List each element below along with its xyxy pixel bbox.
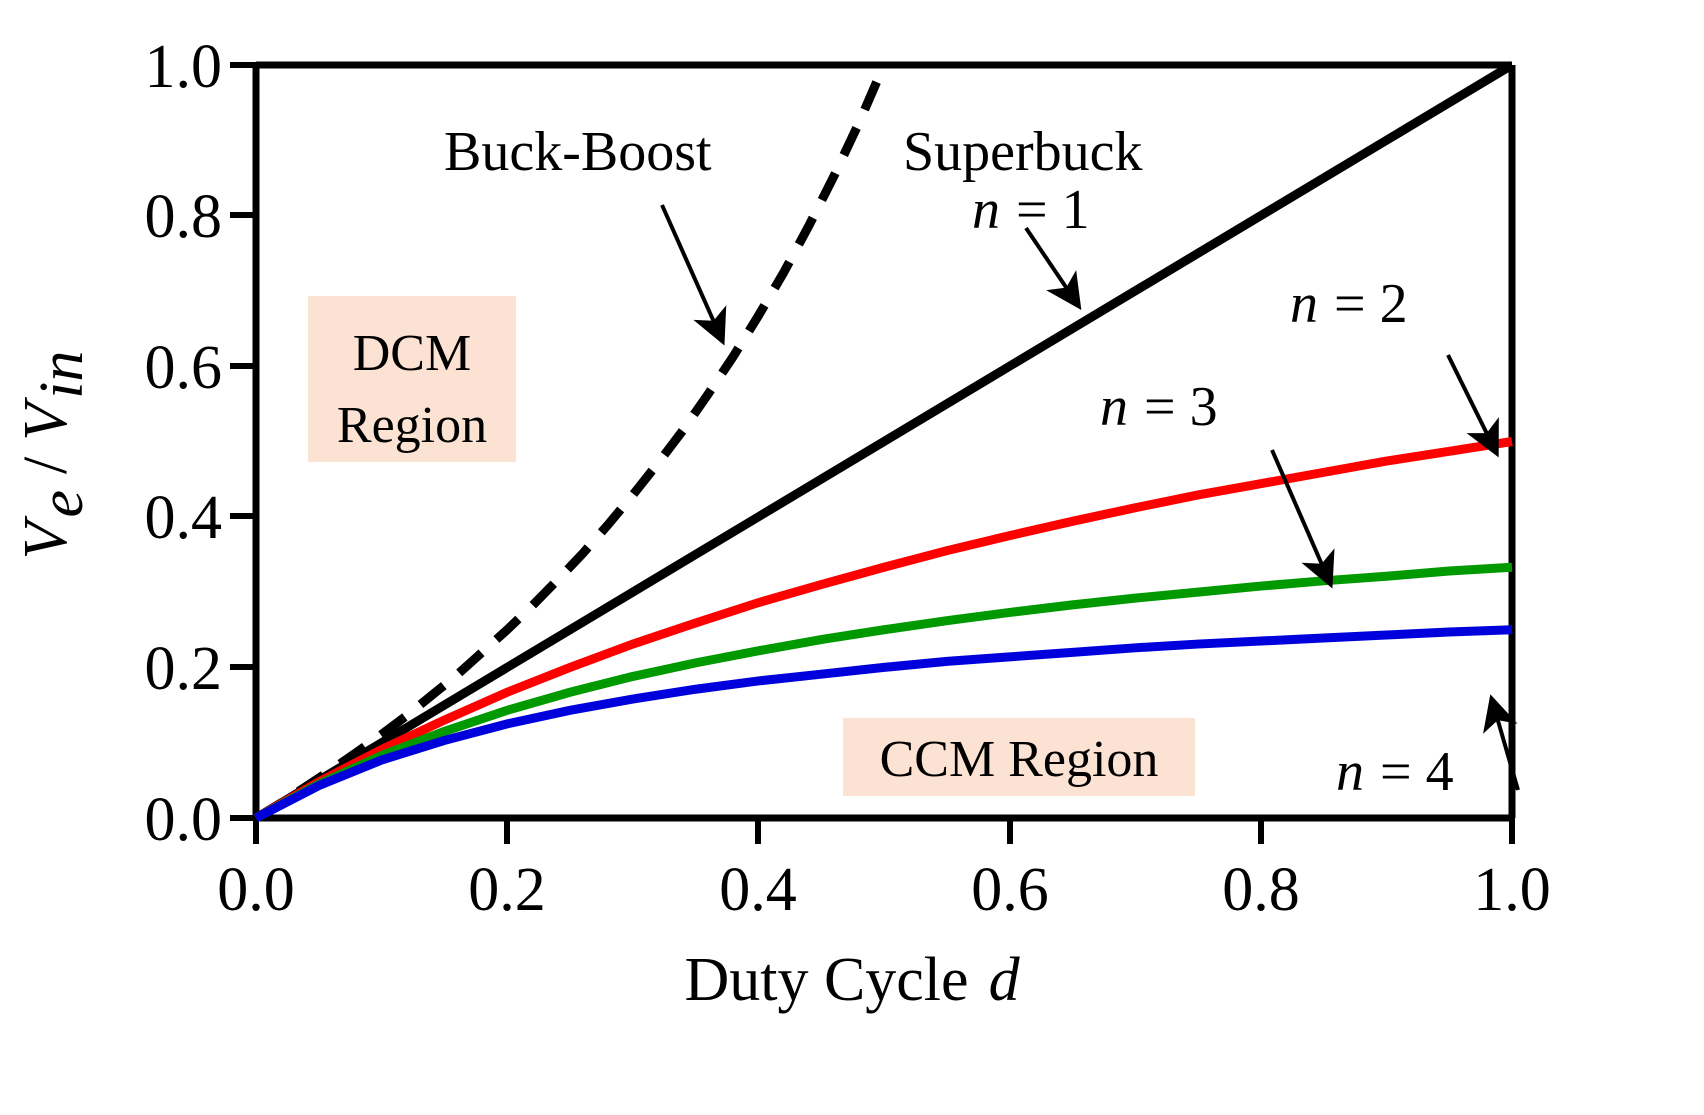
x-ticklabel-1: 0.2 [468, 856, 546, 924]
superbuck-n-value: = 1 [1016, 179, 1090, 241]
y-ticklabel-3: 0.6 [145, 334, 223, 402]
y-axis-title-slash: / [12, 456, 80, 474]
y-ticklabel-4: 0.8 [145, 183, 223, 251]
buck-boost-arrow [662, 205, 722, 340]
n2-arrow [1448, 355, 1496, 452]
svg-text:V e /: V e / V in [12, 351, 96, 560]
x-ticklabel-4: 0.8 [1222, 856, 1300, 924]
n2-value: = 2 [1334, 273, 1408, 335]
chart-canvas: 0.0 0.2 0.4 0.6 0.8 1.0 0.0 0.2 0.4 0.6 … [0, 0, 1704, 1115]
y-axis-title-sub1: e [28, 490, 96, 518]
x-axis-title-var: d [989, 946, 1021, 1014]
n3-var: n [1100, 376, 1128, 438]
dcm-region-label-line1: DCM [353, 325, 471, 382]
y-axis-title: V e / V in [12, 351, 96, 560]
ccm-region-label: CCM Region [880, 731, 1159, 788]
y-axis-title-sub2: in [28, 351, 96, 399]
y-tick-marks [230, 65, 256, 818]
annotation-n2: n = 2 [1290, 273, 1408, 335]
y-ticklabel-1: 0.2 [145, 635, 223, 703]
y-ticklabel-0: 0.0 [145, 786, 223, 854]
x-ticklabel-5: 1.0 [1473, 856, 1551, 924]
x-axis-title: Duty Cycle d [684, 946, 1020, 1014]
x-ticklabel-2: 0.4 [719, 856, 797, 924]
n3-value: = 3 [1144, 376, 1218, 438]
n2-var: n [1290, 273, 1318, 335]
annotation-superbuck-n1: n = 1 [972, 179, 1090, 241]
plot-svg: 0.0 0.2 0.4 0.6 0.8 1.0 0.0 0.2 0.4 0.6 … [0, 0, 1704, 1115]
y-ticklabel-2: 0.4 [145, 484, 223, 552]
n4-value: = 4 [1380, 741, 1454, 803]
x-ticklabel-3: 0.6 [971, 856, 1049, 924]
dcm-region-label-line2: Region [337, 397, 487, 454]
annotation-n4: n = 4 [1336, 741, 1454, 803]
annotation-superbuck: Superbuck [903, 121, 1143, 183]
annotation-buck-boost: Buck-Boost [444, 121, 712, 183]
y-ticklabel-5: 1.0 [145, 33, 223, 101]
annotation-n3: n = 3 [1100, 376, 1218, 438]
n4-var: n [1336, 741, 1364, 803]
x-axis-title-main: Duty Cycle [684, 946, 968, 1014]
x-tick-marks [256, 818, 1512, 844]
y-axis-title-v2: V [12, 397, 80, 441]
superbuck-n-var: n [972, 179, 1000, 241]
x-ticklabel-0: 0.0 [217, 856, 295, 924]
y-axis-title-v1: V [12, 515, 80, 559]
